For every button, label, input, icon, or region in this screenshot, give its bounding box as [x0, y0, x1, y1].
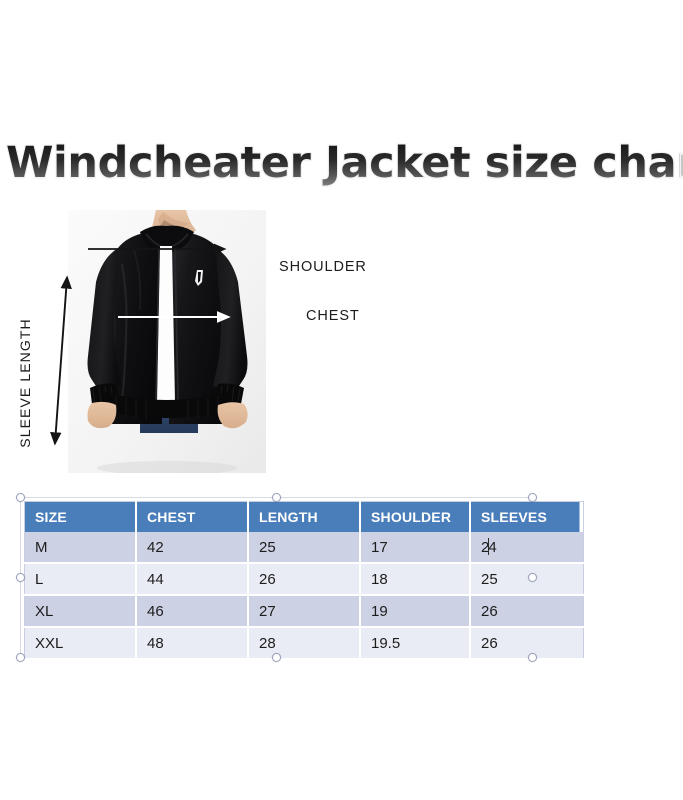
cell-size[interactable]: XL	[25, 595, 137, 627]
cell-shoulder[interactable]: 19.5	[360, 627, 470, 659]
cell-chest[interactable]: 46	[136, 595, 248, 627]
selection-handle-top-center[interactable]	[272, 493, 281, 502]
table-header: SIZE CHEST LENGTH SHOULDER SLEEVES	[25, 502, 584, 533]
cell-shoulder[interactable]: 19	[360, 595, 470, 627]
selection-handle-bottom-center[interactable]	[272, 653, 281, 662]
table-row[interactable]: XXL 48 28 19.5 26	[25, 627, 584, 659]
cell-shoulder[interactable]: 18	[360, 563, 470, 595]
column-header-sleeves[interactable]: SLEEVES	[470, 502, 584, 533]
cell-shoulder[interactable]: 17	[360, 532, 470, 563]
cell-sleeves-editing[interactable]: 24	[470, 532, 584, 563]
cell-size[interactable]: XXL	[25, 627, 137, 659]
column-header-length[interactable]: LENGTH	[248, 502, 360, 533]
size-chart-page: Windcheater Jacket size chart Windcheate…	[0, 0, 683, 800]
selection-handle-bottom-right[interactable]	[528, 653, 537, 662]
selection-handle-middle-left[interactable]	[16, 573, 25, 582]
cell-sleeves[interactable]: 25	[470, 563, 584, 595]
cell-chest[interactable]: 42	[136, 532, 248, 563]
selection-handle-middle-right[interactable]	[528, 573, 537, 582]
cell-sleeves[interactable]: 26	[470, 627, 584, 659]
table-row[interactable]: M 42 25 17 24	[25, 532, 584, 563]
table-body: M 42 25 17 24 L 44 26 18 25 XL 46 27	[25, 532, 584, 659]
shoulder-label: SHOULDER	[279, 259, 367, 275]
size-table-container[interactable]: SIZE CHEST LENGTH SHOULDER SLEEVES M 42 …	[24, 501, 528, 653]
selection-handle-bottom-left[interactable]	[16, 653, 25, 662]
selection-handle-top-right[interactable]	[528, 493, 537, 502]
sleeve-length-label: SLEEVE LENGTH	[17, 313, 33, 453]
cell-length[interactable]: 26	[248, 563, 360, 595]
column-header-chest[interactable]: CHEST	[136, 502, 248, 533]
size-table[interactable]: SIZE CHEST LENGTH SHOULDER SLEEVES M 42 …	[24, 501, 584, 660]
column-header-size[interactable]: SIZE	[25, 502, 137, 533]
chest-label: CHEST	[306, 308, 360, 324]
jacket-photo	[68, 210, 266, 473]
page-title: Windcheater Jacket size chart	[6, 136, 680, 190]
cell-sleeves[interactable]: 26	[470, 595, 584, 627]
jacket-photo-illustration	[68, 210, 266, 473]
column-header-shoulder[interactable]: SHOULDER	[360, 502, 470, 533]
cell-length[interactable]: 27	[248, 595, 360, 627]
cell-size[interactable]: M	[25, 532, 137, 563]
table-row[interactable]: L 44 26 18 25	[25, 563, 584, 595]
cell-chest[interactable]: 48	[136, 627, 248, 659]
selection-handle-top-left[interactable]	[16, 493, 25, 502]
table-header-row: SIZE CHEST LENGTH SHOULDER SLEEVES	[25, 502, 584, 533]
sleeve-length-arrow	[55, 278, 67, 443]
cell-length[interactable]: 25	[248, 532, 360, 563]
table-row[interactable]: XL 46 27 19 26	[25, 595, 584, 627]
cell-chest[interactable]: 44	[136, 563, 248, 595]
cell-sleeves-text-b: 4	[488, 539, 496, 556]
cell-size[interactable]: L	[25, 563, 137, 595]
cell-length[interactable]: 28	[248, 627, 360, 659]
